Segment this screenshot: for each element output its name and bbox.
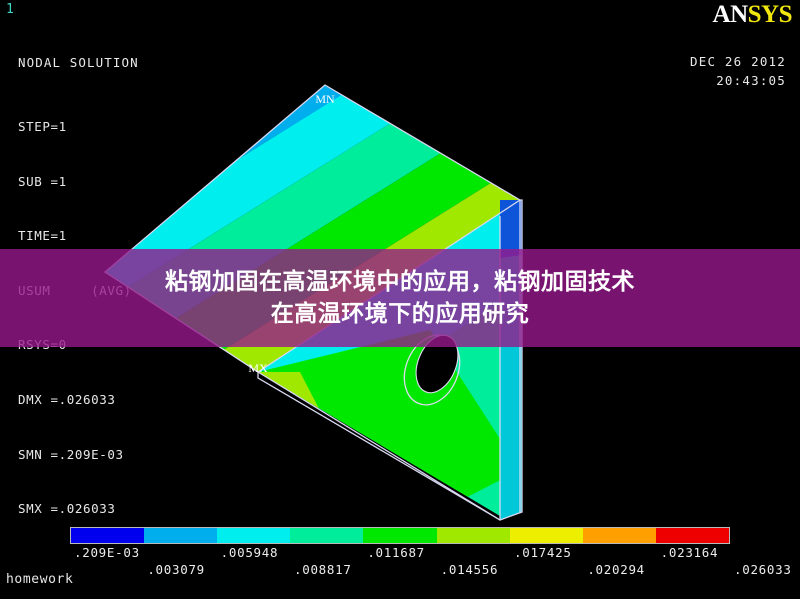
banner-line-1: 粘钢加固在高温环境中的应用，粘钢加固技术 [165,269,635,295]
legend-tick-7: .017425 [514,545,572,560]
banner-line-2: 在高温环境下的应用研究 [40,298,760,330]
legend-tick-8: .020294 [587,562,645,577]
legend-tick-1: .209E-03 [74,545,140,560]
legend-tick-5: .011687 [367,545,425,560]
footer-label: homework [6,572,73,587]
legend-labels-row-lower: .003079.008817.014556.020294.026033 [70,562,800,577]
banner-text: 粘钢加固在高温环境中的应用，粘钢加固技术 在高温环境下的应用研究 [40,266,760,330]
info-dmx: DMX =.026033 [18,391,139,409]
legend-tick-10: .026033 [734,562,792,577]
min-marker-label: MN [315,92,335,106]
legend-tick-3: .005948 [221,545,279,560]
legend-swatch-8 [583,528,656,543]
ansys-logo: ANSYS [713,2,792,28]
logo-text-sys: SYS [748,1,792,28]
legend-labels-row-upper: .209E-03.005948.011687.017425.023164 [70,545,800,560]
info-smn: SMN =.209E-03 [18,446,139,464]
legend-swatch-5 [363,528,436,543]
date-label: DEC 26 2012 [690,54,786,69]
window-number: 1 [6,2,14,17]
legend-tick-6: .014556 [441,562,499,577]
legend-swatch-7 [510,528,583,543]
info-step: STEP=1 [18,118,139,136]
legend-swatch-4 [290,528,363,543]
solution-title: NODAL SOLUTION [18,54,139,72]
legend-color-bar [70,527,730,544]
legend-swatch-1 [71,528,144,543]
legend-tick-2: .003079 [147,562,205,577]
info-time: TIME=1 [18,227,139,245]
contour-legend: .209E-03.005948.011687.017425.023164 .00… [70,527,730,577]
legend-swatch-6 [437,528,510,543]
timestamp-block: DEC 26 2012 20:43:05 [655,33,786,109]
legend-swatch-9 [656,528,729,543]
max-marker-label: MX [248,361,268,375]
legend-swatch-2 [144,528,217,543]
logo-text-an: AN [713,1,748,28]
legend-tick-4: .008817 [294,562,352,577]
info-sub: SUB =1 [18,173,139,191]
info-smx: SMX =.026033 [18,500,139,518]
title-banner-overlay: 粘钢加固在高温环境中的应用，粘钢加固技术 在高温环境下的应用研究 [0,249,800,347]
ansys-viewport: MN MX 1 NODAL SOLUTION STEP=1 SUB =1 TIM… [0,0,800,599]
time-label: 20:43:05 [716,73,786,88]
legend-tick-9: .023164 [661,545,719,560]
legend-swatch-3 [217,528,290,543]
